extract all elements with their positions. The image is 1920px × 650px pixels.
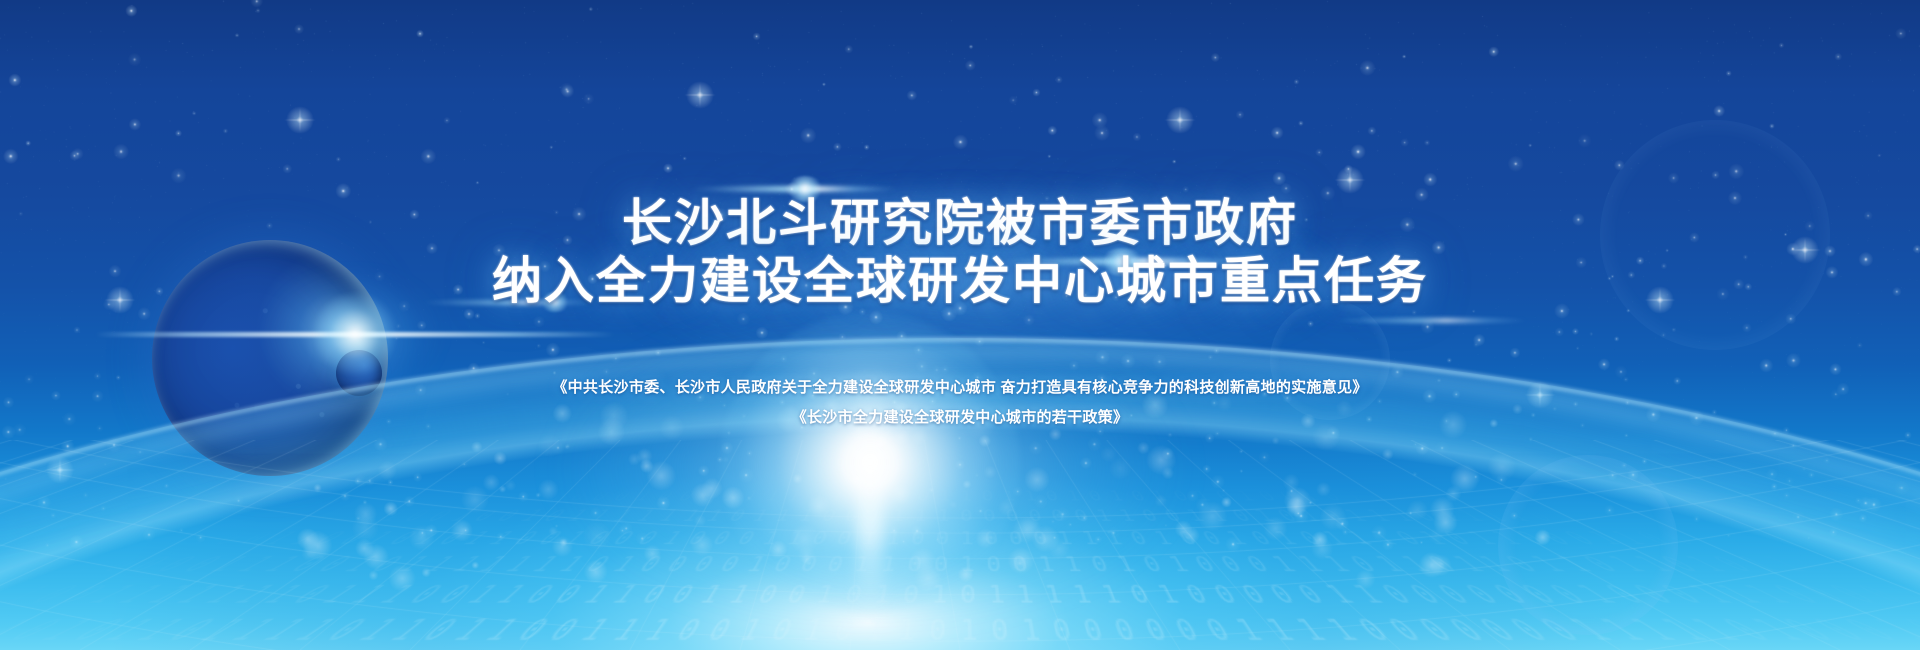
subtitle-document-1: 《中共长沙市委、长沙市人民政府关于全力建设全球研发中心城市 奋力打造具有核心竞争… <box>552 373 1367 403</box>
subtitle-document-2: 《长沙市全力建设全球研发中心城市的若干政策》 <box>552 403 1367 433</box>
promo-banner: 0000101101011110100000001000101111000000… <box>0 0 1920 650</box>
headline-line-2: 纳入全力建设全球研发中心城市重点任务 <box>492 252 1428 310</box>
banner-headline: 长沙北斗研究院被市委市政府 纳入全力建设全球研发中心城市重点任务 <box>492 194 1428 310</box>
banner-content: 长沙北斗研究院被市委市政府 纳入全力建设全球研发中心城市重点任务 《中共长沙市委… <box>0 0 1920 650</box>
headline-line-1: 长沙北斗研究院被市委市政府 <box>492 194 1428 252</box>
banner-subtitles: 《中共长沙市委、长沙市人民政府关于全力建设全球研发中心城市 奋力打造具有核心竞争… <box>552 373 1367 433</box>
